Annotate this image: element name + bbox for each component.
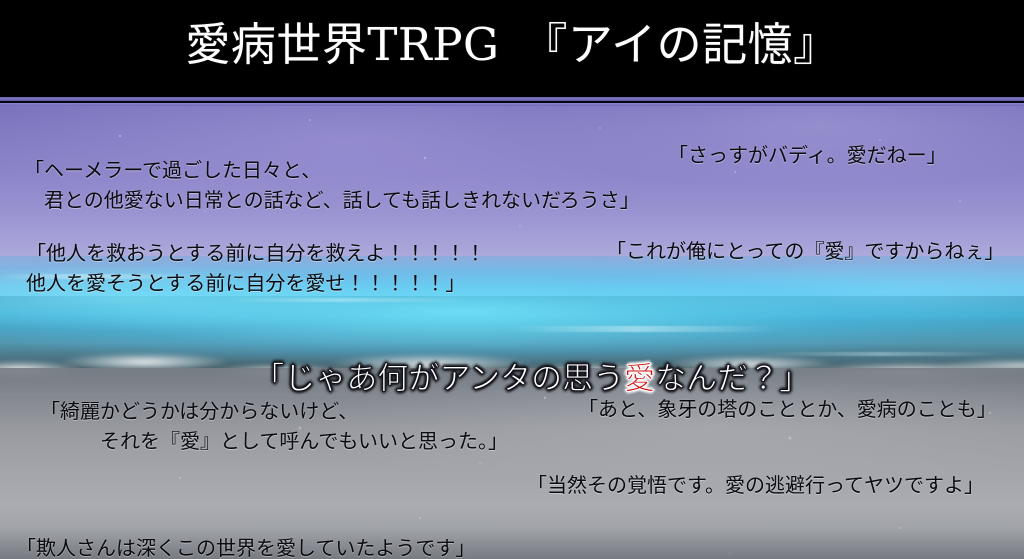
- quote-kakugo: 「当然その覚悟です。愛の逃避行ってヤツですよ」: [527, 470, 984, 500]
- quote-save-yourself: 「他人を救おうとする前に自分を救えよ！！！！！ 他人を愛そうとする前に自分を愛せ…: [26, 238, 485, 298]
- slide-canvas: 愛病世界TRPG 『アイの記憶』 「ヘーメラーで過ごした日々と、 君との他愛ない…: [0, 0, 1024, 559]
- quote-hero-accent-ai: 愛: [624, 361, 655, 397]
- title-divider-lower: [0, 103, 1024, 106]
- quote-gijin: 「欺人さんは深くこの世界を愛していたようです」: [16, 533, 475, 559]
- quote-buddy: 「さっすがバディ。愛だねー」: [668, 140, 947, 170]
- quote-my-ai: 「これが俺にとっての『愛』ですからねぇ」: [606, 236, 1004, 266]
- quote-hero-prefix: 「じゃあ何がアンタの思う: [253, 361, 624, 397]
- quote-heimera: 「ヘーメラーで過ごした日々と、 君との他愛ない日常との話など、話しても話しきれな…: [24, 155, 640, 215]
- page-title: 愛病世界TRPG 『アイの記憶』: [0, 16, 1024, 74]
- quote-hero-center: 「じゃあ何がアンタの思う愛なんだ？」: [0, 316, 1024, 442]
- title-bar: 愛病世界TRPG 『アイの記憶』: [0, 0, 1024, 97]
- quote-hero-suffix: なんだ？」: [655, 361, 810, 397]
